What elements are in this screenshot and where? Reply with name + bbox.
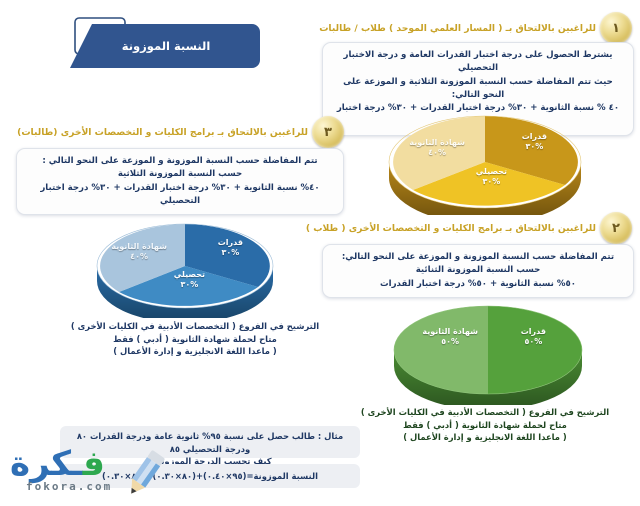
blue-caption-line-1: الترشيح في الفروع ( التخصصات الأدبية في … (50, 320, 340, 333)
blue-pie-chart: قدرات%٣٠ تحصيلي%٣٠ شهادة الثانوية%٤٠ (85, 218, 285, 318)
gold-pie-chart: قدرات%٣٠ تحصيلي%٣٠ شهادة الثانوية%٤٠ (375, 110, 595, 215)
section-2-line-3: ٥٠% نسبة الثانوية + ٥٠% درجة اختبار القد… (333, 278, 623, 291)
section-2-title: للراغبين بالالتحاق بـ برامج الكليات و ال… (306, 223, 596, 234)
blue-pie-caption: الترشيح في الفروع ( التخصصات الأدبية في … (50, 320, 340, 358)
page-title-banner: النسبة الموزونة (60, 24, 260, 68)
section-3-line-1: تتم المفاضلة حسب النسبة الموزونة و الموز… (27, 155, 333, 168)
section-3-heading: ٣ للراغبين بالالتحاق بـ برامج الكليات و … (17, 116, 344, 148)
watermark-word-start: ف (83, 444, 105, 484)
section-1-title: للراغبين بالالتحاق بـ ( المسار العلمي ال… (319, 23, 596, 34)
section-2-badge: ٢ (600, 212, 632, 244)
green-pie-caption: الترشيح في الفروع ( التخصصات الأدبية في … (340, 406, 630, 444)
section-2-heading: ٢ للراغبين بالالتحاق بـ برامج الكليات و … (306, 212, 632, 244)
infographic-page: النسبة الموزونة ١ للراغبين بالالتحاق بـ … (0, 0, 640, 506)
green-caption-line-1: الترشيح في الفروع ( التخصصات الأدبية في … (340, 406, 630, 419)
watermark: فـكرة fokora.com (8, 444, 138, 502)
header: النسبة الموزونة (60, 10, 320, 76)
section-3-line-3: ٤٠% نسبة الثانوية + ٣٠% درجة اختبار القد… (27, 182, 333, 209)
watermark-word: فـكرة (10, 444, 105, 484)
section-1-line-1: يشترط الحصول على درجة اختبار القدرات الع… (333, 49, 623, 76)
section-3-line-2: حسب النسبة الموزونة الثلاثية (27, 168, 333, 181)
section-3-title: للراغبين بالالتحاق بـ برامج الكليات و ال… (17, 127, 308, 138)
section-1-line-2: حيث تتم المفاضلة حسب النسبة الموزونة الث… (333, 76, 623, 103)
green-pie-chart: قدرات%٥٠ شهادة الثانوية%٥٠ (378, 300, 598, 405)
blue-caption-line-3: ( ماعدا اللغة الانجليزية و إدارة الأعمال… (50, 345, 340, 358)
green-caption-line-2: متاح لحملة شهادة الثانوية ( أدبي ) فقط (340, 419, 630, 432)
watermark-word-rest: ـكرة (10, 444, 83, 484)
section-2-callout: تتم المفاضلة حسب النسبة الموزونة و الموز… (322, 244, 634, 298)
section-1-heading: ١ للراغبين بالالتحاق بـ ( المسار العلمي … (319, 12, 632, 44)
section-2-line-2: حسب النسبة الموزونة الثنائية (333, 264, 623, 277)
page-title: النسبة الموزونة (122, 39, 211, 53)
green-caption-line-3: ( ماعدا اللغة الانجليزية و إدارة الأعمال… (340, 431, 630, 444)
blue-caption-line-2: متاح لحملة شهادة الثانوية ( أدبي ) فقط (50, 333, 340, 346)
section-1-badge: ١ (600, 12, 632, 44)
watermark-domain: fokora.com (26, 480, 112, 493)
section-3-badge: ٣ (312, 116, 344, 148)
section-2-line-1: تتم المفاضلة حسب النسبة الموزونة و الموز… (333, 251, 623, 264)
section-3-callout: تتم المفاضلة حسب النسبة الموزونة و الموز… (16, 148, 344, 215)
